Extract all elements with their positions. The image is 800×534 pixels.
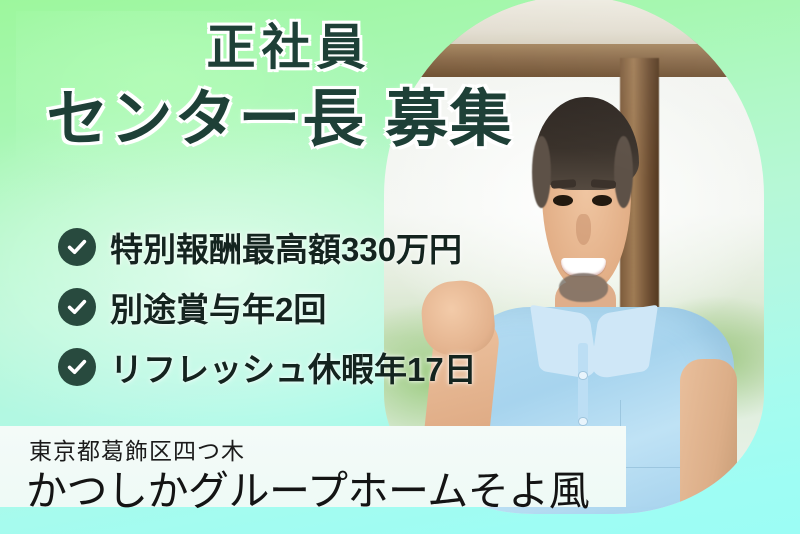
- hair-side-right: [614, 136, 633, 209]
- check-circle-icon: [58, 288, 96, 326]
- check-circle-icon: [58, 348, 96, 386]
- list-item: 別途賞与年2回: [58, 278, 578, 335]
- benefit-label: 特別報酬最高額330万円: [110, 223, 462, 271]
- nose: [576, 214, 591, 245]
- benefits-list: 特別報酬最高額330万円 別途賞与年2回 リフレッシュ休暇年17日: [58, 218, 578, 398]
- check-circle-icon: [58, 228, 96, 266]
- list-item: 特別報酬最高額330万円: [58, 218, 578, 275]
- eyebrow-right: [591, 179, 616, 188]
- eyebrow-left: [551, 179, 576, 188]
- shirt-placket: [578, 343, 588, 426]
- shirt-pocket: [620, 400, 687, 468]
- benefit-label: リフレッシュ休暇年17日: [110, 343, 477, 391]
- benefit-label: 別途賞与年2回: [110, 283, 326, 331]
- recruitment-poster: 正社員 センター長 募集 特別報酬最高額330万円 別途賞与年2回: [0, 0, 800, 534]
- list-item: リフレッシュ休暇年17日: [58, 338, 578, 395]
- shirt-button-top: [579, 372, 587, 379]
- headline-group: 正社員 センター長 募集: [0, 22, 560, 152]
- facility-banner: 東京都葛飾区四つ木 かつしかグループホームそよ風: [0, 426, 626, 507]
- page-title: センター長 募集: [0, 87, 560, 152]
- right-arm: [680, 359, 737, 514]
- facility-name: かつしかグループホームそよ風: [26, 457, 589, 517]
- employment-type-label: 正社員: [18, 22, 560, 75]
